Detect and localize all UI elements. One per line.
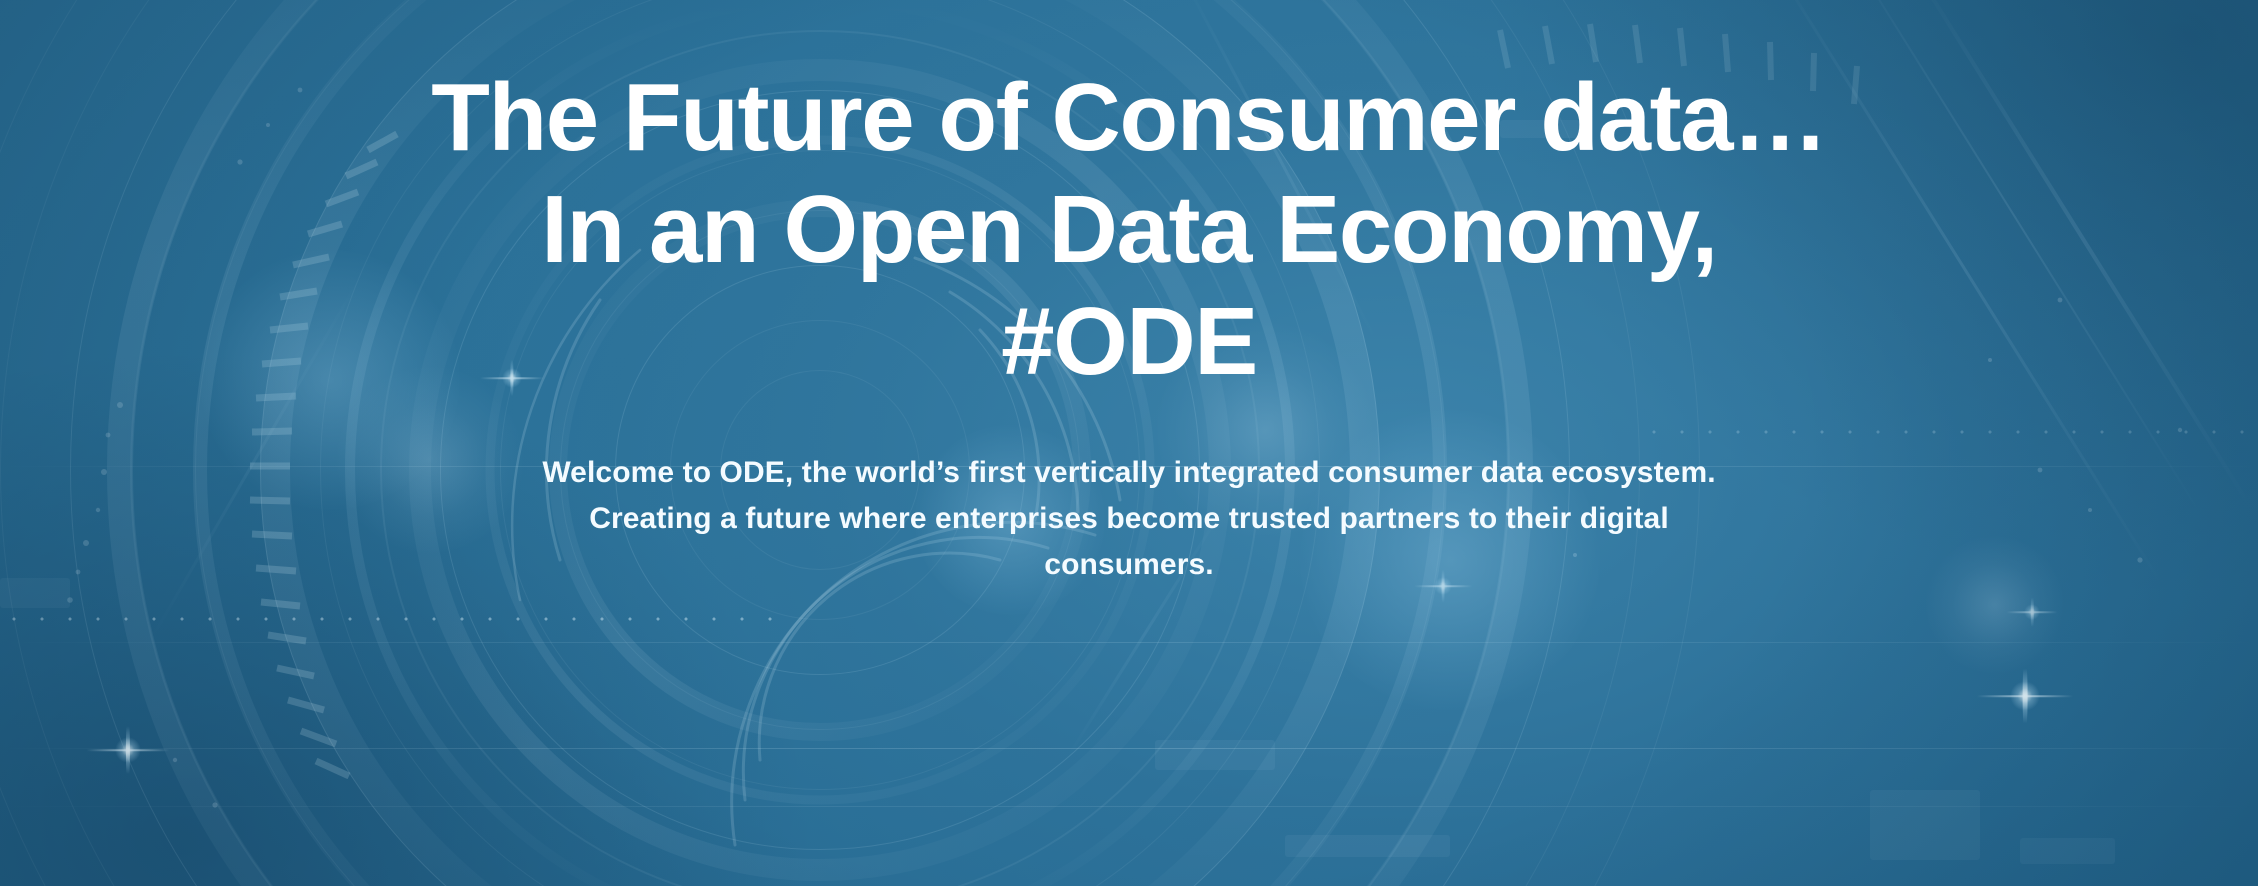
hero-content: The Future of Consumer data… In an Open … — [0, 0, 2258, 886]
page-title: The Future of Consumer data… In an Open … — [0, 62, 2258, 398]
subtitle-line-2: Creating a future where enterprises beco… — [589, 502, 1669, 535]
hero-banner: The Future of Consumer data… In an Open … — [0, 0, 2258, 886]
headline-line-3: #ODE — [0, 286, 2258, 398]
headline-line-1: The Future of Consumer data… — [0, 62, 2258, 174]
hero-subtitle: Welcome to ODE, the world’s first vertic… — [519, 450, 1739, 588]
subtitle-line-3: consumers. — [1044, 548, 1213, 581]
headline-line-2: In an Open Data Economy, — [0, 174, 2258, 286]
subtitle-line-1: Welcome to ODE, the world’s first vertic… — [542, 456, 1715, 489]
